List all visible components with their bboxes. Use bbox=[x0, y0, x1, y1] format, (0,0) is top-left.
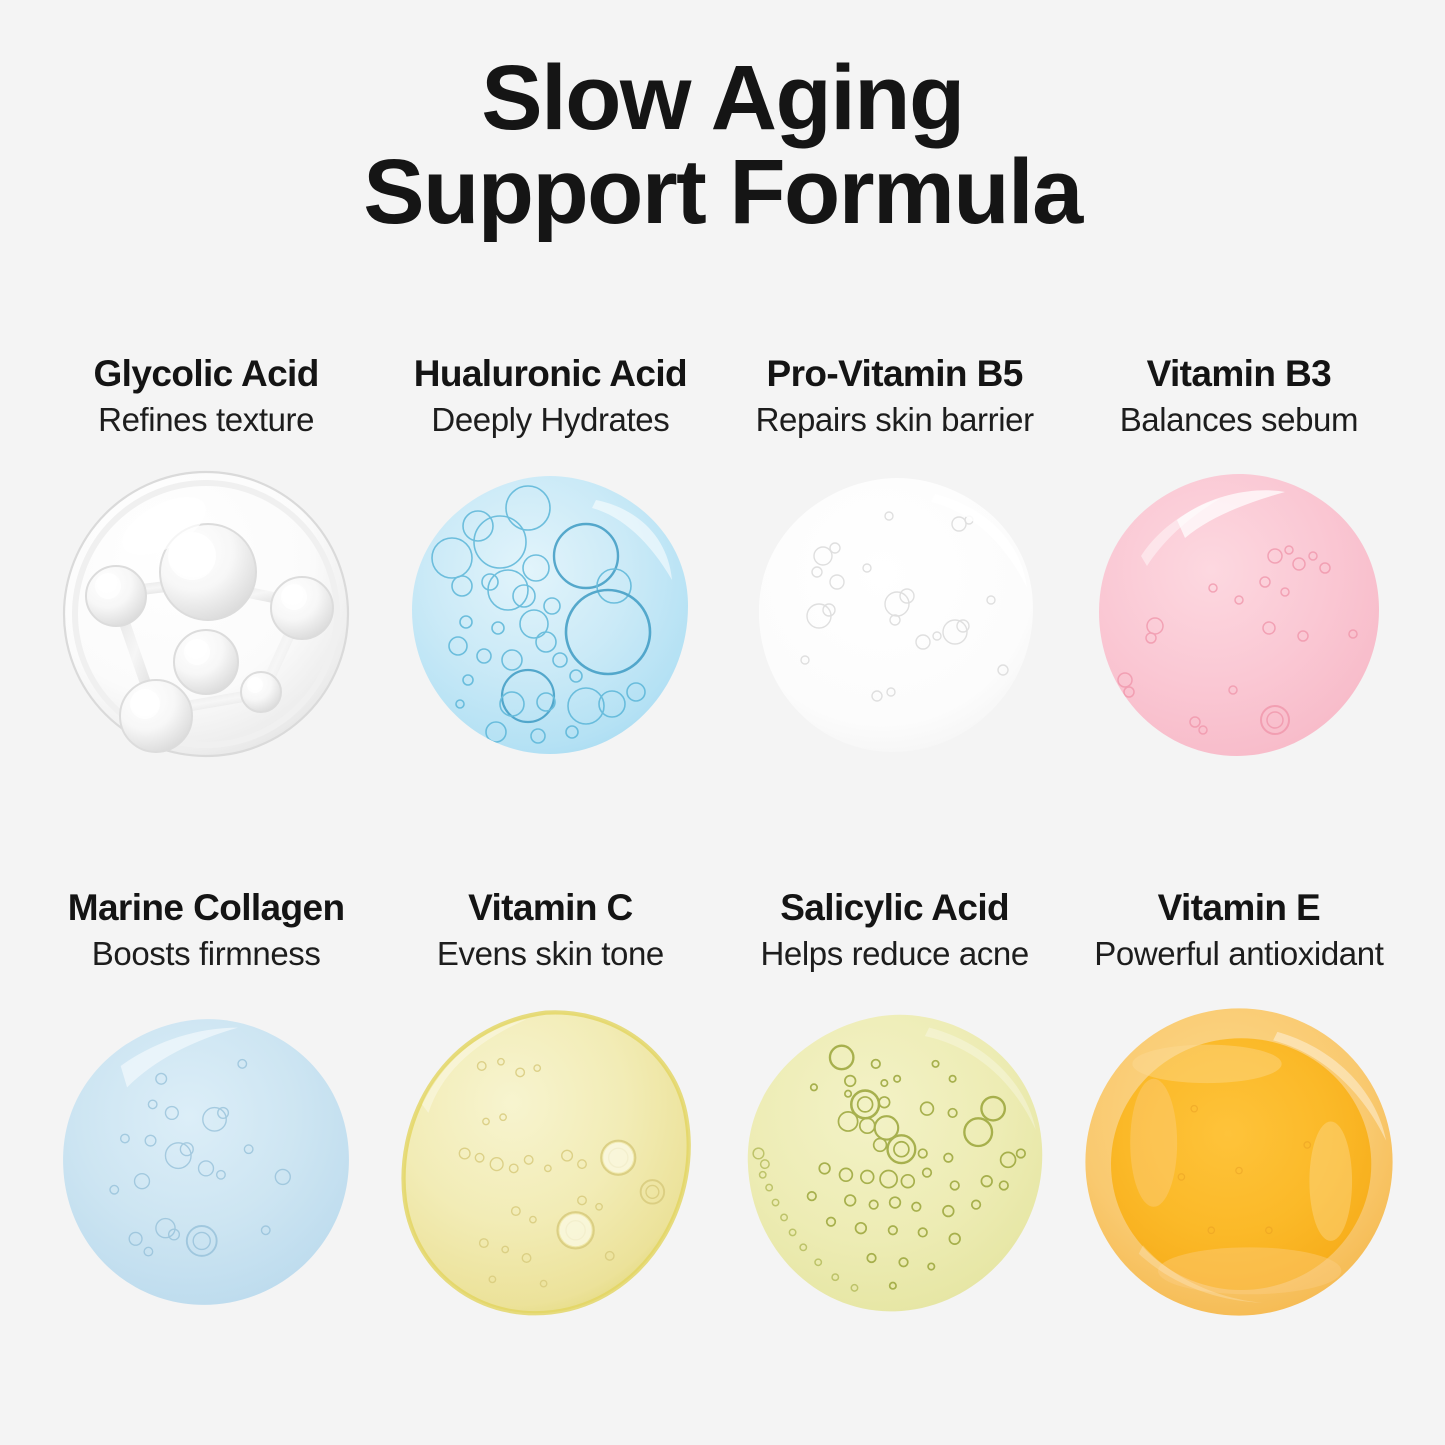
ingredient-description: Deeply Hydrates bbox=[431, 402, 669, 438]
ingredient-name: Salicylic Acid bbox=[780, 889, 1009, 928]
ingredient-description: Helps reduce acne bbox=[760, 936, 1028, 972]
ingredient-card-vitamin-c: Vitamin C Evens skin tone bbox=[378, 889, 722, 1322]
ingredient-card-hualuronic-acid: Hualuronic Acid Deeply Hydrates bbox=[378, 355, 722, 764]
ingredient-description: Powerful antioxidant bbox=[1094, 936, 1383, 972]
ingredient-name: Vitamin B3 bbox=[1147, 355, 1332, 394]
title-line-1: Slow Aging bbox=[0, 52, 1445, 146]
product-ingredient-infographic: Slow Aging Support Formula Glycolic Acid… bbox=[0, 0, 1445, 1445]
ingredient-row-2: Marine Collagen Boosts firmness bbox=[0, 889, 1445, 1322]
title-line-2: Support Formula bbox=[0, 146, 1445, 240]
ingredient-card-vitamin-e: Vitamin E Powerful antioxidant bbox=[1067, 889, 1411, 1322]
ingredient-description: Balances sebum bbox=[1120, 402, 1358, 438]
swatch-pink-gel-drop bbox=[1089, 464, 1389, 764]
swatch-clear-molecule-sphere bbox=[56, 464, 356, 764]
swatch-blue-bubble-gel-drop bbox=[400, 464, 700, 764]
ingredient-name: Pro-Vitamin B5 bbox=[767, 355, 1023, 394]
ingredient-name: Hualuronic Acid bbox=[414, 355, 687, 394]
ingredient-name: Vitamin C bbox=[468, 889, 633, 928]
ingredient-grid: Glycolic Acid Refines texture bbox=[0, 355, 1445, 1322]
ingredient-description: Repairs skin barrier bbox=[756, 402, 1034, 438]
ingredient-name: Glycolic Acid bbox=[94, 355, 319, 394]
swatch-light-blue-gel-drop bbox=[46, 1002, 366, 1322]
ingredient-card-marine-collagen: Marine Collagen Boosts firmness bbox=[34, 889, 378, 1322]
page-title: Slow Aging Support Formula bbox=[0, 52, 1445, 240]
swatch-yellow-green-bubble-gel-drop bbox=[735, 1002, 1055, 1322]
swatch-orange-oil-drop bbox=[1079, 1002, 1399, 1322]
ingredient-name: Marine Collagen bbox=[68, 889, 345, 928]
ingredient-description: Boosts firmness bbox=[92, 936, 321, 972]
ingredient-description: Evens skin tone bbox=[437, 936, 664, 972]
ingredient-card-vitamin-b3: Vitamin B3 Balances sebum bbox=[1067, 355, 1411, 764]
ingredient-name: Vitamin E bbox=[1158, 889, 1321, 928]
ingredient-card-salicylic-acid: Salicylic Acid Helps reduce acne bbox=[723, 889, 1067, 1322]
ingredient-card-glycolic-acid: Glycolic Acid Refines texture bbox=[34, 355, 378, 764]
ingredient-row-1: Glycolic Acid Refines texture bbox=[0, 355, 1445, 764]
ingredient-card-pro-vitamin-b5: Pro-Vitamin B5 Repairs skin barrier bbox=[723, 355, 1067, 764]
swatch-clear-gel-drop bbox=[745, 464, 1045, 764]
swatch-pale-yellow-serum-drop bbox=[390, 1002, 710, 1322]
ingredient-description: Refines texture bbox=[98, 402, 314, 438]
